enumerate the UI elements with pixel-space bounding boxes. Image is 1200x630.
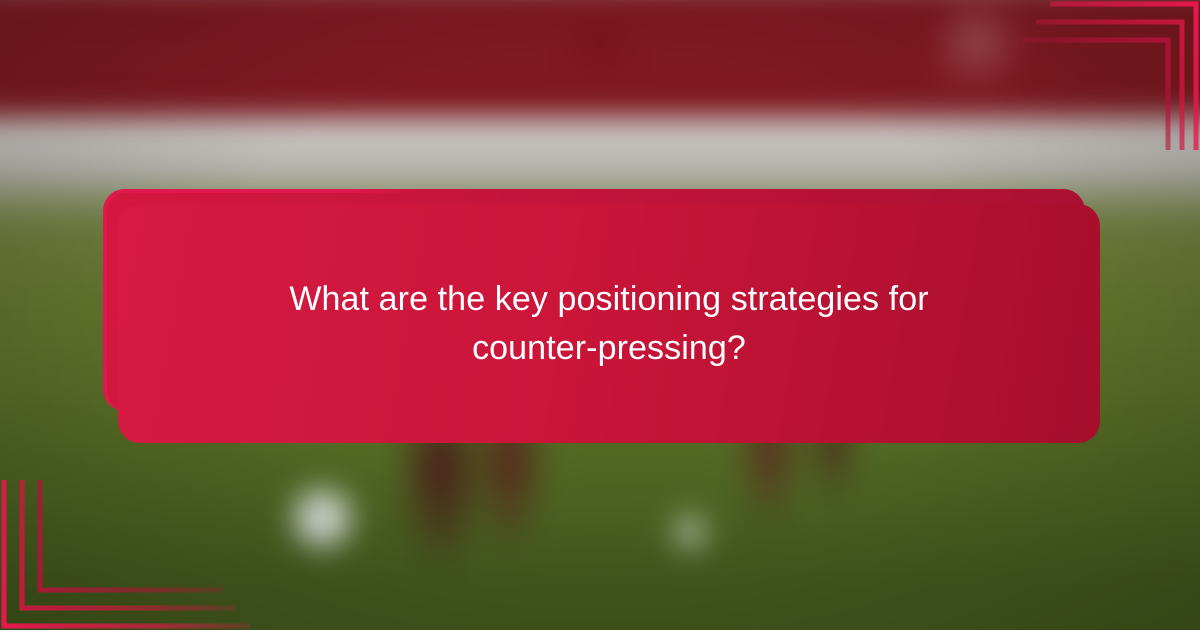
question-card-canvas: What are the key positioning strategies … bbox=[0, 0, 1200, 630]
question-card: What are the key positioning strategies … bbox=[118, 204, 1100, 443]
question-text: What are the key positioning strategies … bbox=[239, 275, 979, 372]
